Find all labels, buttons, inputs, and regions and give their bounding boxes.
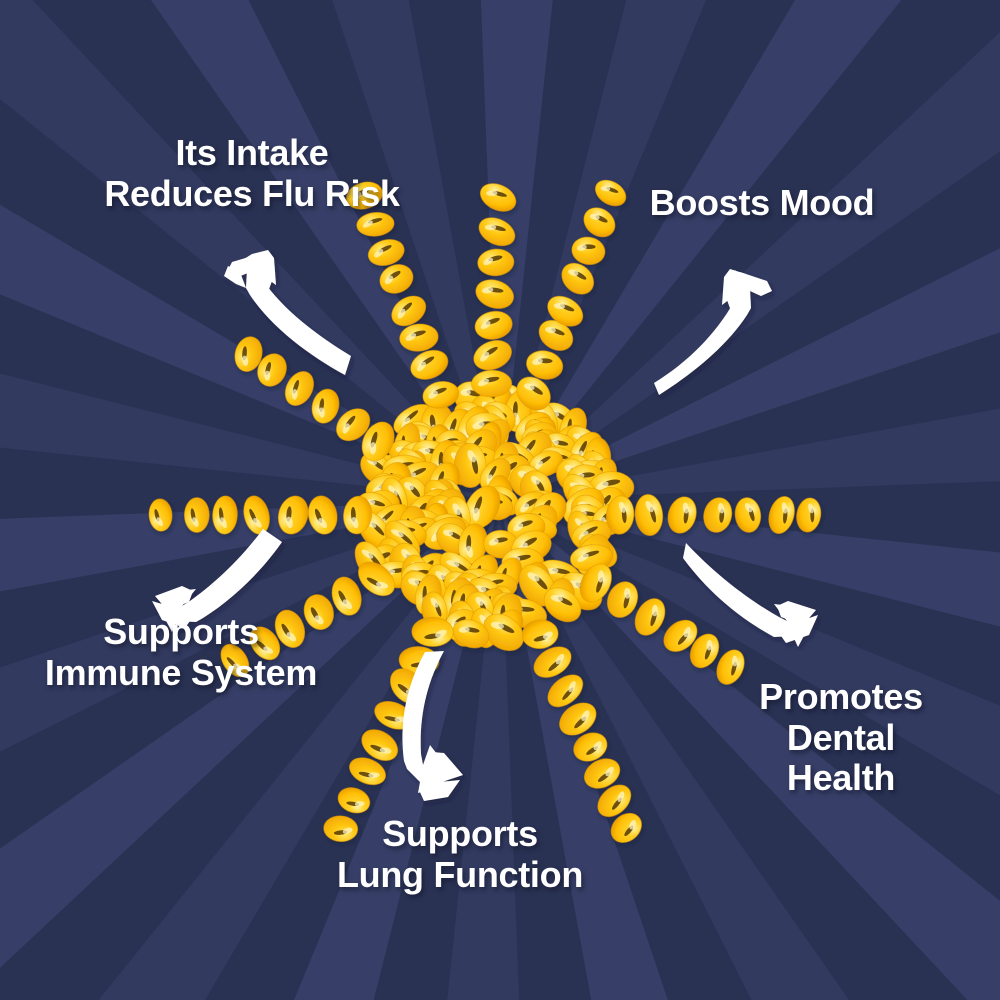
benefit-label-lung: Supports Lung Function: [337, 814, 583, 895]
benefit-label-mood: Boosts Mood: [650, 183, 875, 224]
benefit-label-flu: Its Intake Reduces Flu Risk: [104, 133, 399, 214]
benefit-label-immune: Supports Immune System: [45, 612, 317, 693]
infographic-canvas: Its Intake Reduces Flu Risk Boosts Mood …: [0, 0, 1000, 1000]
benefit-label-dental: Promotes Dental Health: [759, 677, 923, 799]
